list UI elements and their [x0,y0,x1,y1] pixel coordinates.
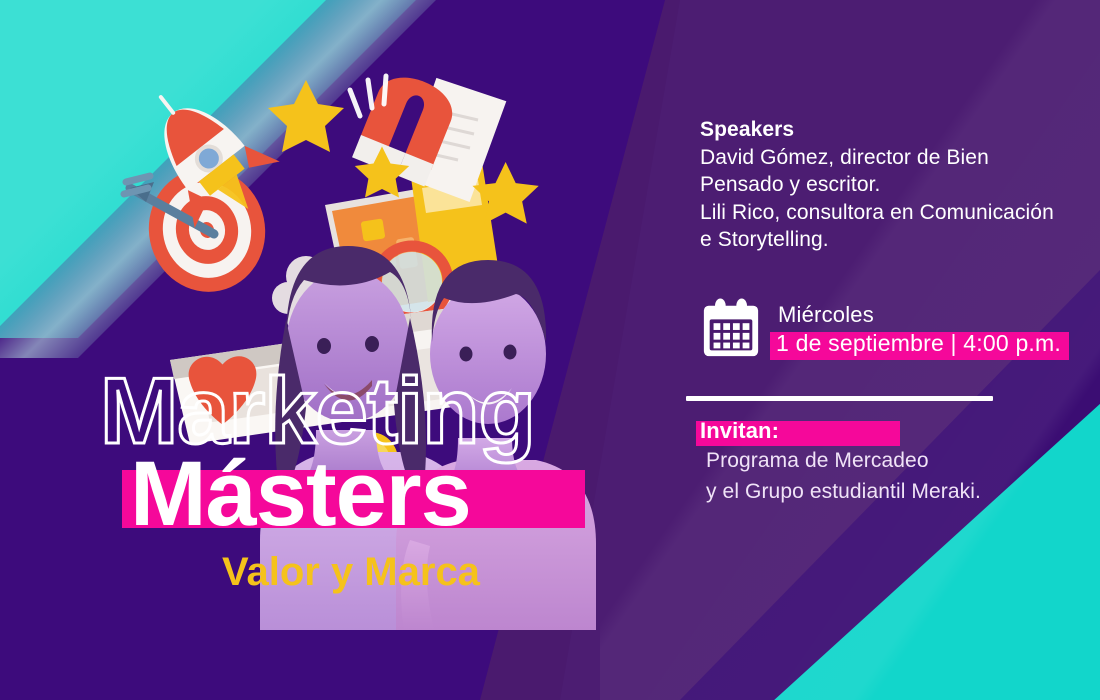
invitan-label-wrap: Invitan: [700,418,779,444]
event-day: Miércoles [778,302,1061,328]
invitan-line-1: Programa de Mercadeo [706,448,1060,475]
speakers-line-3: Lili Rico, consultora en Comunicación [700,199,1070,226]
date-texts: Miércoles 1 de septiembre | 4:00 p.m. [776,302,1061,357]
headline-subtitle: Valor y Marca [222,550,720,595]
invitan-block: Invitan: Programa de Mercadeo y el Grupo… [700,418,1060,506]
event-poster: Marketing Másters Valor y Marca Speakers… [0,0,1100,700]
speakers-line-4: e Storytelling. [700,226,1070,253]
speakers-line-1: David Gómez, director de Bien [700,144,1070,171]
headline-marketing: Marketing [100,368,720,454]
event-datetime-wrap: 1 de septiembre | 4:00 p.m. [776,330,1061,357]
headline-masters: Másters [100,448,720,540]
speakers-line-2: Pensado y escritor. [700,171,1070,198]
speakers-title: Speakers [700,118,1070,142]
headline-block: Marketing Másters Valor y Marca [100,368,720,595]
section-divider [686,396,993,401]
event-datetime: 1 de septiembre | 4:00 p.m. [776,330,1061,357]
invitan-line-2: y el Grupo estudiantil Meraki. [706,479,1060,506]
invitan-label: Invitan: [700,418,779,443]
calendar-icon [700,298,762,360]
star-icon [268,80,344,152]
headline-masters-wrap: Másters [100,448,720,544]
event-date-block: Miércoles 1 de septiembre | 4:00 p.m. [700,298,1061,360]
speakers-block: Speakers David Gómez, director de Bien P… [700,118,1070,253]
